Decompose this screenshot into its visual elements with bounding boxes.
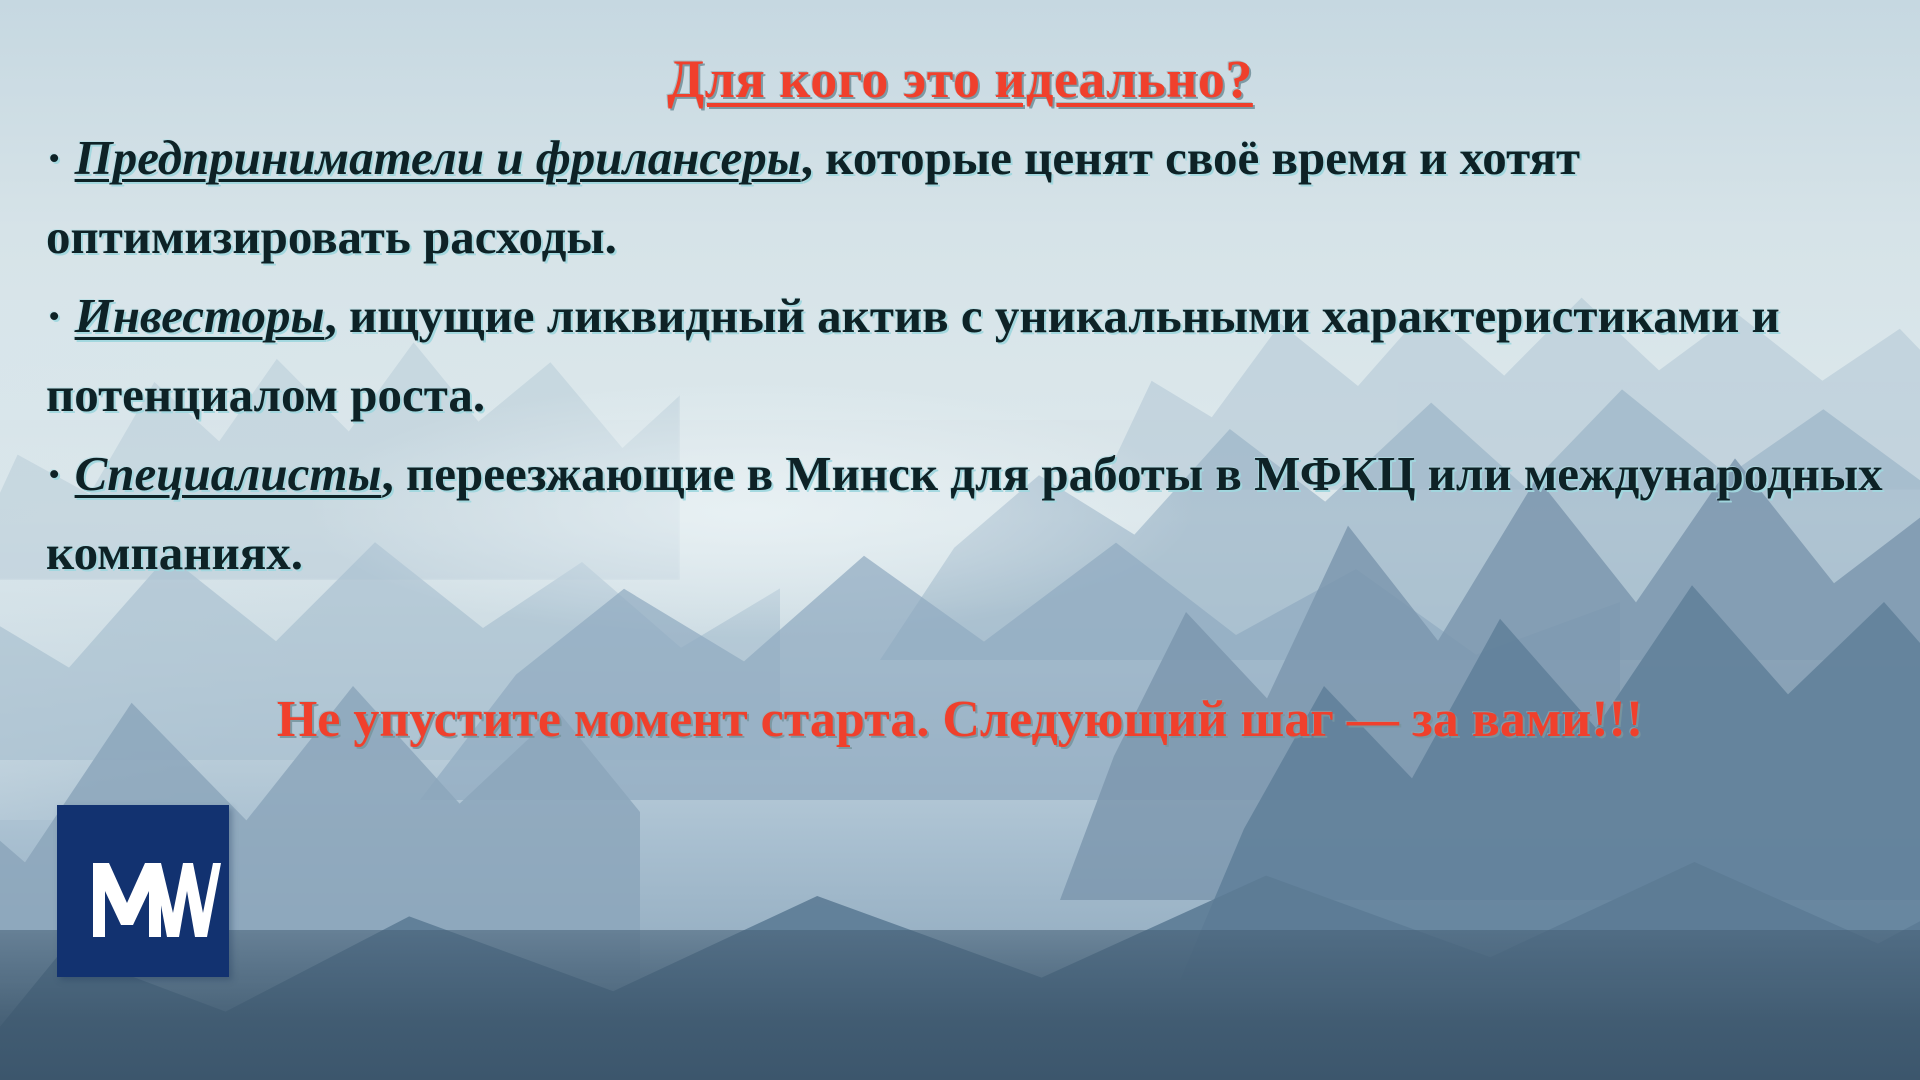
bullet-marker-2: · [46, 288, 75, 343]
brand-logo [57, 805, 229, 977]
slide-content: Для кого это идеально? · Предприниматели… [0, 0, 1920, 1080]
mw-monogram-icon [57, 805, 229, 977]
slide-title-text: Для кого это идеально? [667, 49, 1253, 109]
bullet-marker-3: · [46, 446, 75, 501]
bullet-lead-1: Предприниматели и фрилансеры [75, 130, 801, 185]
bullet-lead-2: Инвесторы [75, 288, 325, 343]
list-item: · Инвесторы, ищущие ликвидный актив с ун… [46, 276, 1886, 434]
bullet-list: · Предприниматели и фрилансеры, которые … [46, 118, 1886, 592]
call-to-action-text: Не упустите момент старта. Следующий шаг… [0, 690, 1920, 749]
bullet-lead-3: Специалисты [75, 446, 382, 501]
list-item: · Предприниматели и фрилансеры, которые … [46, 118, 1886, 276]
list-item: · Специалисты, переезжающие в Минск для … [46, 434, 1886, 592]
slide-title: Для кого это идеально? [0, 48, 1920, 110]
bullet-marker-1: · [46, 130, 75, 185]
presentation-slide: Для кого это идеально? · Предприниматели… [0, 0, 1920, 1080]
